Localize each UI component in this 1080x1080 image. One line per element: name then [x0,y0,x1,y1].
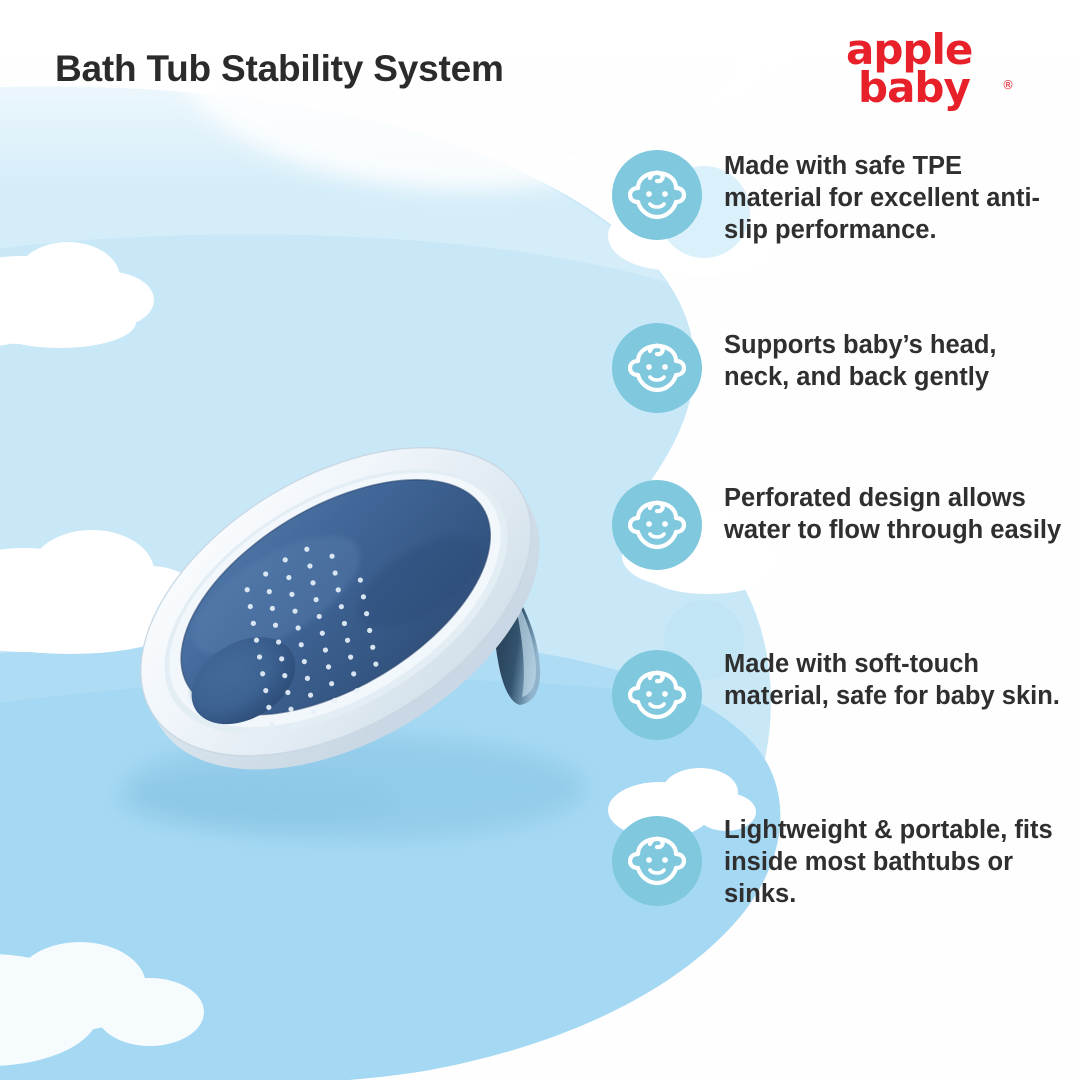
feature-item: Supports baby’s head, neck, and back gen… [612,315,1064,413]
feature-text: Lightweight & portable, fits inside most… [724,812,1064,910]
baby-face-icon [612,816,702,906]
brand-logo-line2: baby [858,68,970,107]
feature-item: Lightweight & portable, fits inside most… [612,812,1064,910]
baby-face-icon [612,323,702,413]
feature-text: Supports baby’s head, neck, and back gen… [724,315,1064,393]
product-photo-bath-seat [55,370,615,860]
feature-text: Made with safe TPE material for excellen… [724,150,1064,246]
base-contact-shadow [115,780,395,824]
registered-trademark-icon: ® [1002,78,1014,92]
baby-face-icon [612,650,702,740]
feature-item: Perforated design allows water to flow t… [612,480,1064,570]
feature-text: Made with soft-touch material, safe for … [724,646,1064,712]
baby-face-icon [612,150,702,240]
page-title: Bath Tub Stability System [55,48,504,90]
feature-item: Made with safe TPE material for excellen… [612,150,1064,246]
feature-text: Perforated design allows water to flow t… [724,480,1064,546]
brand-logo: apple baby ® [846,30,1028,122]
baby-face-icon [612,480,702,570]
infographic-canvas: Bath Tub Stability System apple baby ® M… [0,0,1080,1080]
feature-item: Made with soft-touch material, safe for … [612,646,1064,740]
